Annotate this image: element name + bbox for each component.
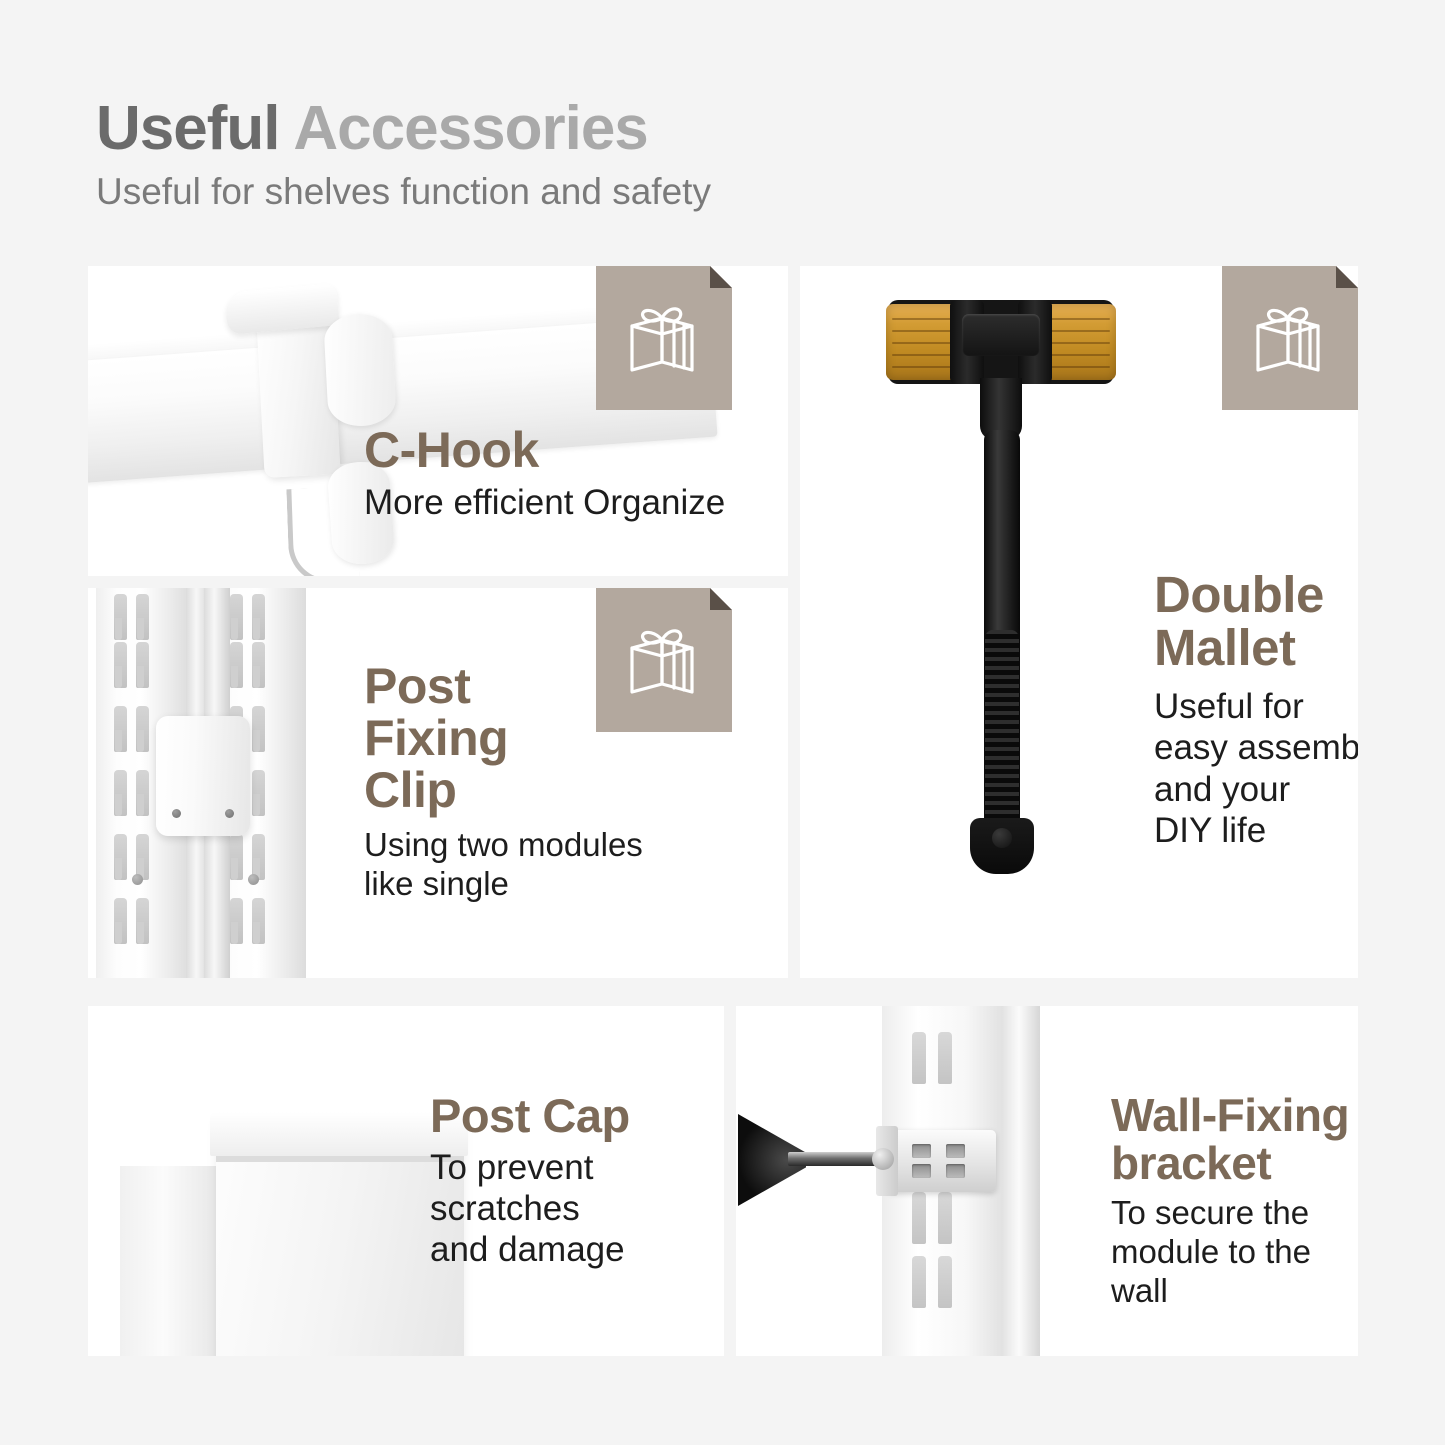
mallet-base (970, 818, 1034, 874)
badge-fold-corner (1336, 266, 1358, 288)
description-line: DIY life (1154, 810, 1358, 851)
post-hole (132, 874, 143, 885)
gift-box-icon (1248, 296, 1332, 380)
post-slot (252, 642, 265, 688)
title-part-accessories: Accessories (293, 94, 647, 163)
card-post-cap: Post Cap To prevent scratches and damage (88, 1006, 724, 1356)
post-slot (230, 642, 243, 688)
header: Useful Accessories Useful for shelves fu… (96, 96, 711, 213)
page-title: Useful Accessories (96, 96, 711, 161)
heading-line: Double (1154, 568, 1358, 621)
post-slot (114, 594, 127, 640)
post-slot (252, 706, 265, 752)
post-slot (252, 898, 265, 944)
screw-head (872, 1148, 894, 1170)
badge-fold-corner (710, 588, 732, 610)
screwdriver-shaft (788, 1152, 880, 1166)
double-mallet-text: Double Mallet Useful for easy assembly a… (1154, 568, 1358, 851)
double-mallet-description: Useful for easy assembly and your DIY li… (1154, 686, 1358, 851)
description-line: like single (364, 865, 643, 904)
post-hole (248, 874, 259, 885)
heading-line: Wall-Fixing (1111, 1092, 1358, 1140)
description-line: easy assembly (1154, 727, 1358, 768)
post-fixing-clip-description: Using two modules like single (364, 826, 643, 904)
post-slot (230, 898, 243, 944)
gift-box-icon (622, 618, 706, 702)
c-hook-text: C-Hook More efficient Organize (364, 424, 725, 523)
mallet-center-plate (962, 314, 1040, 356)
gift-badge-c-hook (596, 266, 732, 410)
description-line: module to the wall (1111, 1233, 1358, 1311)
title-part-useful: Useful (96, 94, 293, 163)
mallet-grip (985, 630, 1019, 830)
post-slot (114, 834, 127, 880)
badge-fold-corner (710, 266, 732, 288)
card-post-fixing-clip: Post Fixing Clip Using two modules like … (88, 588, 788, 978)
post-slot (230, 834, 243, 880)
post-slot (114, 706, 127, 752)
post-slot (252, 770, 265, 816)
accessories-grid: C-Hook More efficient Organize (88, 266, 1358, 1356)
gift-box-icon (622, 296, 706, 380)
post-slot (114, 770, 127, 816)
post-cap-rear-post (120, 1166, 228, 1356)
mallet (888, 300, 1114, 930)
card-c-hook: C-Hook More efficient Organize (88, 266, 788, 576)
heading-line: bracket (1111, 1140, 1358, 1188)
metal-bracket (888, 1130, 996, 1192)
card-wall-fixing-bracket: Wall-Fixing bracket To secure the module… (736, 1006, 1358, 1356)
post-slot (136, 706, 149, 752)
post-cap-description: To prevent scratches and damage (430, 1147, 630, 1271)
post-slot (136, 898, 149, 944)
description-line: To prevent (430, 1147, 630, 1188)
description-line: and damage (430, 1229, 630, 1270)
description-line: scratches (430, 1188, 630, 1229)
c-hook-upper-nub (323, 312, 397, 427)
post-cap-heading: Post Cap (430, 1092, 630, 1141)
c-hook-description: More efficient Organize (364, 482, 725, 523)
c-hook-heading: C-Hook (364, 424, 725, 476)
card-double-mallet: Double Mallet Useful for easy assembly a… (800, 266, 1358, 978)
description-line: Using two modules (364, 826, 643, 865)
mallet-face-left (886, 304, 960, 380)
post-slot (136, 594, 149, 640)
heading-line: Mallet (1154, 621, 1358, 674)
post-cap-text: Post Cap To prevent scratches and damage (430, 1092, 630, 1271)
post-slot (114, 898, 127, 944)
gift-badge-post-fixing-clip (596, 588, 732, 732)
double-mallet-heading: Double Mallet (1154, 568, 1358, 674)
mallet-face-right (1042, 304, 1116, 380)
wall-fixing-bracket-text: Wall-Fixing bracket To secure the module… (1111, 1092, 1358, 1310)
post-pair (94, 588, 308, 978)
post-cap-edge (216, 1156, 464, 1162)
post-slot (136, 642, 149, 688)
heading-line: Clip (364, 764, 643, 816)
post-slot (114, 642, 127, 688)
wall-post-rail (1002, 1006, 1040, 1356)
post-slot (252, 594, 265, 640)
wall-fixing-bracket-description: To secure the module to the wall (1111, 1194, 1358, 1311)
page-subtitle: Useful for shelves function and safety (96, 171, 711, 213)
infographic-page: Useful Accessories Useful for shelves fu… (0, 0, 1445, 1445)
gift-badge-double-mallet (1222, 266, 1358, 410)
description-line: and your (1154, 769, 1358, 810)
post-slot (136, 770, 149, 816)
wall-fixing-bracket-heading: Wall-Fixing bracket (1111, 1092, 1358, 1188)
post-slot (230, 594, 243, 640)
description-line: To secure the (1111, 1194, 1358, 1233)
description-line: Useful for (1154, 686, 1358, 727)
fixing-clip (156, 716, 250, 836)
